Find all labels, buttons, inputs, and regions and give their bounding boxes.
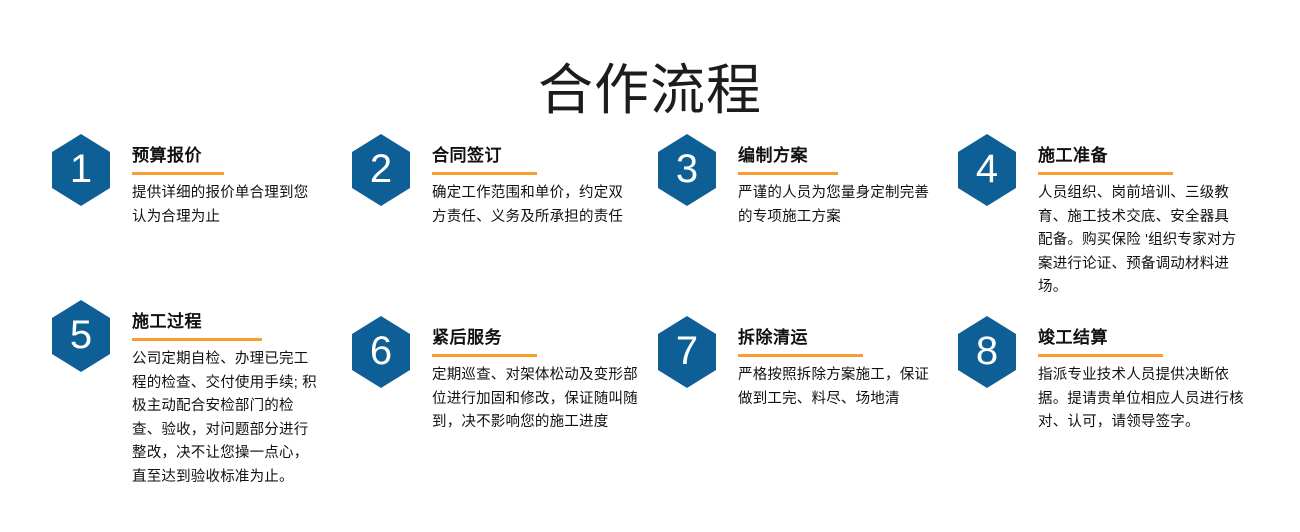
step-number-5: 5 [70,315,92,355]
step-number-8: 8 [976,331,998,371]
step-description-3: 严谨的人员为您量身定制完善的专项施工方案 [738,182,938,229]
hexagon-badge-5: 5 [52,300,110,372]
process-step-3[interactable]: 3 编制方案 严谨的人员为您量身定制完善的专项施工方案 [658,134,938,229]
hexagon-badge-1: 1 [52,134,110,206]
step-body-7: 拆除清运 严格按照拆除方案施工，保证做到工完、料尽、场地清 [738,316,943,411]
step-description-1: 提供详细的报价单合理到您认为合理为止 [132,182,322,229]
step-number-1: 1 [70,149,92,189]
step-number-6: 6 [370,331,392,371]
step-number-4: 4 [976,149,998,189]
step-title-5: 施工过程 [132,312,322,332]
step-description-4: 人员组织、岗前培训、三级教育、施工技术交底、安全器具配备。购买保险 '组织专家对… [1038,182,1238,299]
step-number-2: 2 [370,149,392,189]
step-body-5: 施工过程 公司定期自检、办理已完工程的检查、交付使用手续; 积极主动配合安检部门… [132,300,322,489]
step-title-7: 拆除清运 [738,328,943,348]
step-body-1: 预算报价 提供详细的报价单合理到您认为合理为止 [132,134,322,229]
step-underline-7 [738,354,863,357]
step-underline-3 [738,172,838,175]
hexagon-badge-7: 7 [658,316,716,388]
step-underline-6 [432,354,537,357]
step-body-6: 紧后服务 定期巡查、对架体松动及变形部位进行加固和修改，保证随叫随到，决不影响您… [432,316,642,435]
step-description-5: 公司定期自检、办理已完工程的检查、交付使用手续; 积极主动配合安检部门的检查、验… [132,348,322,489]
step-description-7: 严格按照拆除方案施工，保证做到工完、料尽、场地清 [738,364,943,411]
hexagon-badge-4: 4 [958,134,1016,206]
process-row-bottom: 5 施工过程 公司定期自检、办理已完工程的检查、交付使用手续; 积极主动配合安检… [0,300,1300,520]
step-title-4: 施工准备 [1038,146,1238,166]
process-step-2[interactable]: 2 合同签订 确定工作范围和单价，约定双方责任、义务及所承担的责任 [352,134,637,229]
process-steps-grid: 1 预算报价 提供详细的报价单合理到您认为合理为止 2 合同签订 确定工作范围和… [0,120,1300,520]
step-underline-1 [132,172,224,175]
process-row-top: 1 预算报价 提供详细的报价单合理到您认为合理为止 2 合同签订 确定工作范围和… [0,120,1300,300]
hexagon-badge-8: 8 [958,316,1016,388]
step-body-3: 编制方案 严谨的人员为您量身定制完善的专项施工方案 [738,134,938,229]
step-number-3: 3 [676,149,698,189]
step-title-6: 紧后服务 [432,328,642,348]
process-step-7[interactable]: 7 拆除清运 严格按照拆除方案施工，保证做到工完、料尽、场地清 [658,316,943,411]
process-step-1[interactable]: 1 预算报价 提供详细的报价单合理到您认为合理为止 [52,134,322,229]
process-step-6[interactable]: 6 紧后服务 定期巡查、对架体松动及变形部位进行加固和修改，保证随叫随到，决不影… [352,316,642,435]
step-underline-4 [1038,172,1173,175]
step-title-1: 预算报价 [132,146,322,166]
step-description-2: 确定工作范围和单价，约定双方责任、义务及所承担的责任 [432,182,637,229]
step-body-4: 施工准备 人员组织、岗前培训、三级教育、施工技术交底、安全器具配备。购买保险 '… [1038,134,1238,300]
step-description-6: 定期巡查、对架体松动及变形部位进行加固和修改，保证随叫随到，决不影响您的施工进度 [432,364,642,434]
step-body-8: 竣工结算 指派专业技术人员提供决断依据。提请贵单位相应人员进行核对、认可，请领导… [1038,316,1253,435]
process-step-8[interactable]: 8 竣工结算 指派专业技术人员提供决断依据。提请贵单位相应人员进行核对、认可，请… [958,316,1253,435]
step-underline-5 [132,338,262,341]
step-title-8: 竣工结算 [1038,328,1253,348]
hexagon-badge-3: 3 [658,134,716,206]
step-underline-2 [432,172,537,175]
process-step-5[interactable]: 5 施工过程 公司定期自检、办理已完工程的检查、交付使用手续; 积极主动配合安检… [52,300,322,489]
page-title: 合作流程 [0,59,1300,122]
hexagon-badge-6: 6 [352,316,410,388]
step-title-3: 编制方案 [738,146,938,166]
step-title-2: 合同签订 [432,146,637,166]
step-underline-8 [1038,354,1163,357]
step-number-7: 7 [676,331,698,371]
process-step-4[interactable]: 4 施工准备 人员组织、岗前培训、三级教育、施工技术交底、安全器具配备。购买保险… [958,134,1238,300]
hexagon-badge-2: 2 [352,134,410,206]
step-body-2: 合同签订 确定工作范围和单价，约定双方责任、义务及所承担的责任 [432,134,637,229]
step-description-8: 指派专业技术人员提供决断依据。提请贵单位相应人员进行核对、认可，请领导签字。 [1038,364,1253,434]
